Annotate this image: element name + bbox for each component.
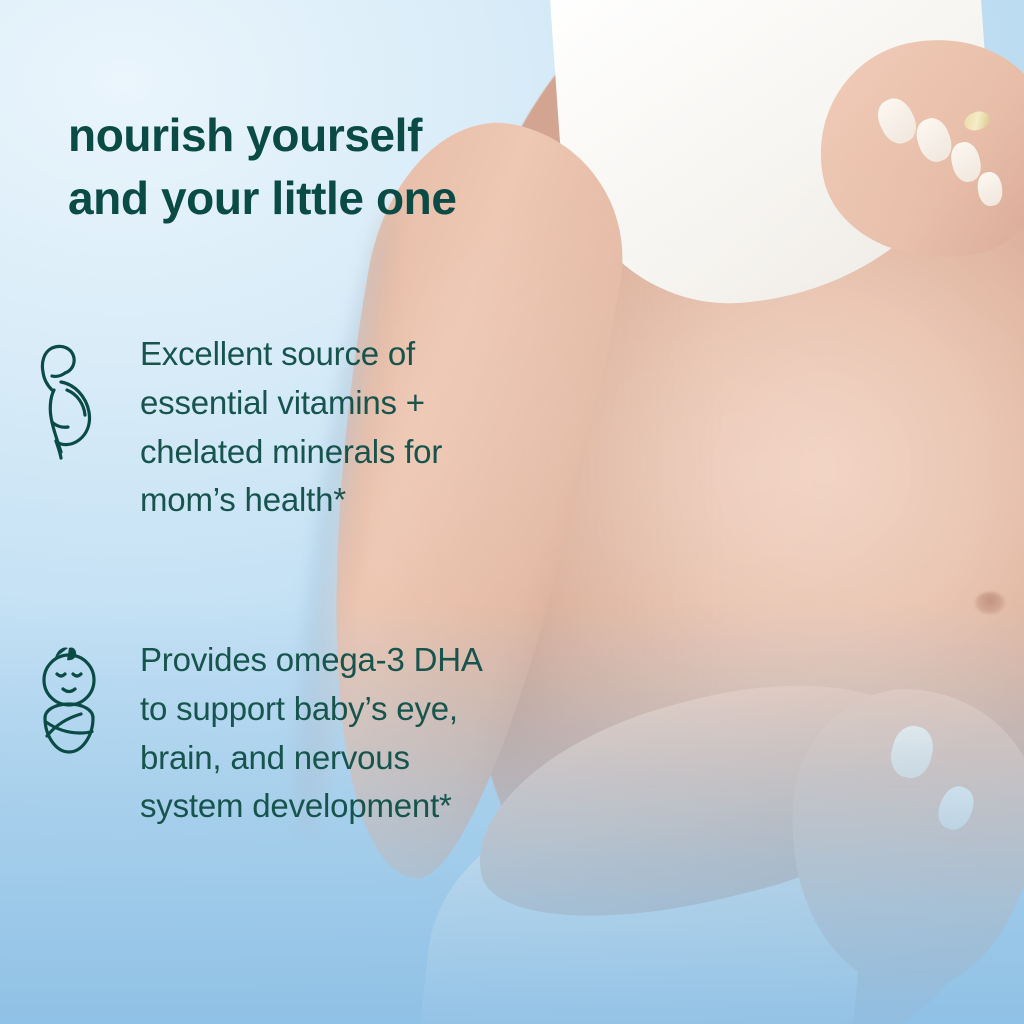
headline-line-2: and your little one	[68, 167, 628, 230]
benefit-text-mom: Excellent source of essential vitamins +…	[140, 330, 442, 525]
benefit-line: chelated minerals for	[140, 428, 442, 477]
headline-line-1: nourish yourself	[68, 104, 628, 167]
benefit-line: system development*	[140, 782, 483, 831]
swaddled-baby-icon	[28, 636, 114, 774]
benefit-line: Excellent source of	[140, 330, 442, 379]
benefit-line: essential vitamins +	[140, 379, 442, 428]
benefit-text-baby: Provides omega-3 DHA to support baby’s e…	[140, 636, 483, 831]
benefit-line: brain, and nervous	[140, 734, 483, 783]
benefit-item-mom: Excellent source of essential vitamins +…	[28, 330, 628, 525]
headline: nourish yourself and your little one	[68, 104, 628, 229]
marketing-image: nourish yourself and your little one Exc…	[0, 0, 1024, 1024]
benefit-line: to support baby’s eye,	[140, 685, 483, 734]
benefit-line: mom’s health*	[140, 476, 442, 525]
benefit-line: Provides omega-3 DHA	[140, 636, 483, 685]
benefit-item-baby: Provides omega-3 DHA to support baby’s e…	[28, 636, 628, 831]
pregnant-woman-icon	[28, 330, 114, 468]
